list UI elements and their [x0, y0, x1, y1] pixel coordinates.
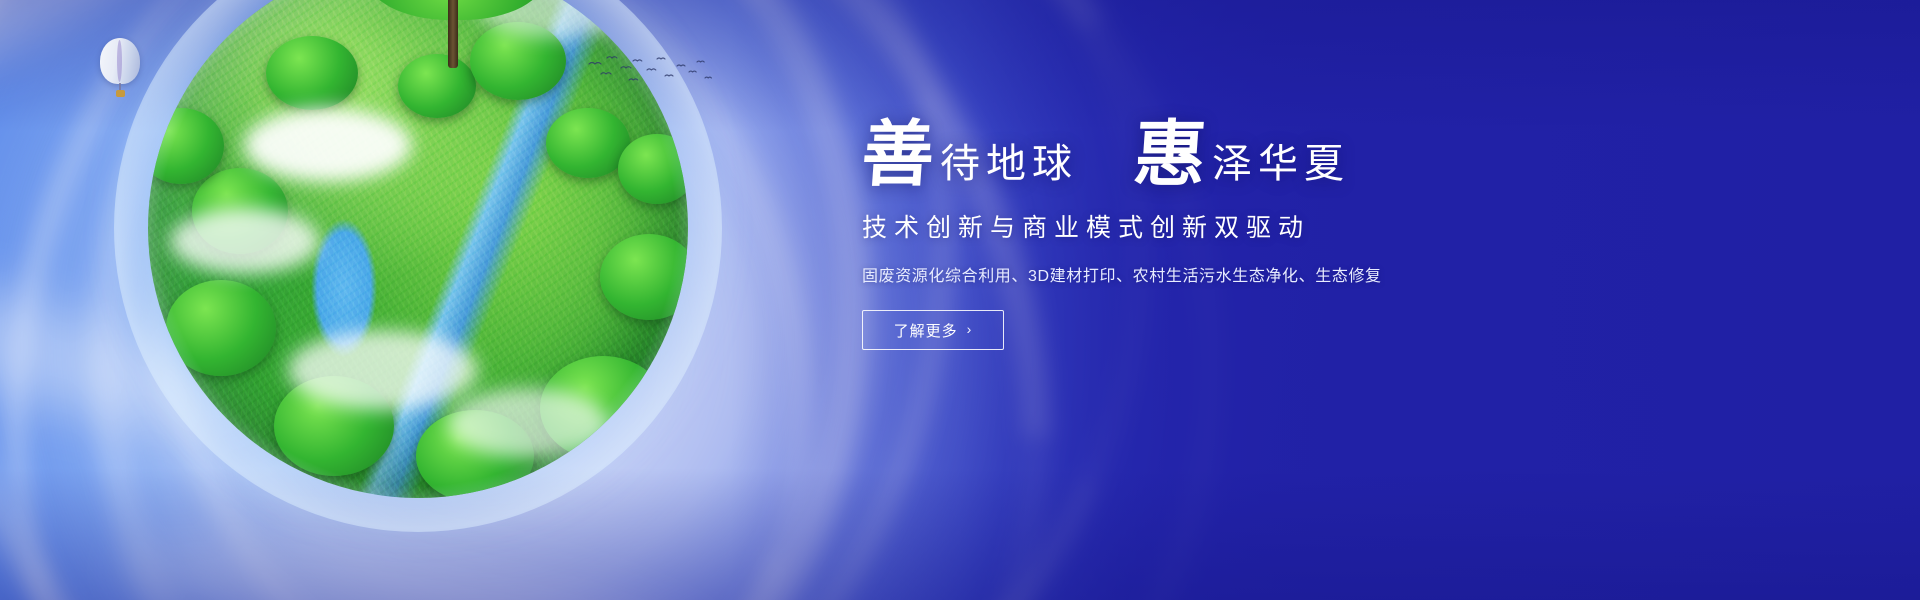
headline-phrase2-rest: 泽华夏	[1212, 144, 1350, 190]
bird-flock-icon	[585, 52, 715, 92]
tree-trunk-icon	[448, 0, 458, 68]
headline-phrase1-lead: 善	[859, 118, 936, 190]
hero-description: 固废资源化综合利用、3D建材打印、农村生活污水生态净化、生态修复	[862, 262, 1562, 286]
hot-air-balloon-icon	[100, 38, 140, 100]
tree-icon	[166, 280, 276, 376]
hero-subtitle: 技术创新与商业模式创新双驱动	[862, 208, 1562, 244]
balloon-basket	[116, 90, 125, 97]
learn-more-button[interactable]: 了解更多 ›	[862, 310, 1004, 350]
hero-copy-block: 善 待地球 惠 泽华夏 技术创新与商业模式创新双驱动 固废资源化综合利用、3D建…	[862, 118, 1562, 350]
balloon-stripe	[117, 40, 122, 82]
tree-icon	[618, 134, 688, 204]
cloud-icon	[288, 330, 478, 410]
tree-icon	[266, 36, 358, 110]
cloud-icon	[448, 388, 608, 458]
tree-icon	[398, 54, 476, 118]
hero-headline: 善 待地球 惠 泽华夏	[862, 118, 1562, 190]
headline-phrase1-rest: 待地球	[940, 144, 1078, 190]
learn-more-label: 了解更多	[894, 320, 958, 341]
cloud-icon	[170, 208, 320, 274]
headline-phrase2-lead: 惠	[1131, 118, 1208, 190]
hero-banner: 善 待地球 惠 泽华夏 技术创新与商业模式创新双驱动 固废资源化综合利用、3D建…	[0, 0, 1920, 600]
tree-icon	[600, 234, 688, 320]
cloud-icon	[244, 108, 412, 182]
chevron-right-icon: ›	[967, 322, 973, 336]
